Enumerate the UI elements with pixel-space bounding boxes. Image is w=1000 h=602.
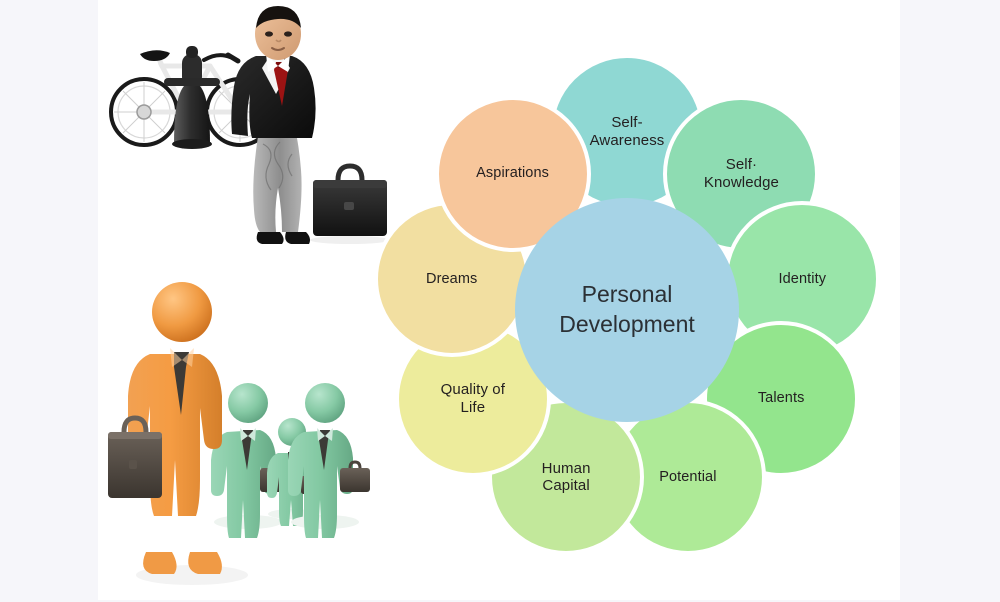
petal-label-line2: Capital — [542, 477, 589, 494]
personal-development-flower-diagram: Self-AwarenessSelf·KnowledgeIdentityTale… — [370, 0, 900, 600]
petal-label-line1: Self- — [611, 114, 642, 131]
petal-label-human-capital: HumanCapital — [536, 460, 597, 495]
petal-label-line1: Quality of — [441, 381, 505, 398]
petal-label-talents: Talents — [752, 390, 811, 407]
petal-label-dreams: Dreams — [420, 271, 483, 288]
petal-label-quality-of-life: Quality ofLife — [435, 381, 511, 416]
center-label-line1: Personal — [582, 281, 673, 307]
photo-team-figures — [100, 272, 390, 597]
petal-label-line1: Self· — [726, 156, 757, 173]
petal-label-potential: Potential — [653, 469, 722, 486]
center-label-line2: Development — [559, 311, 695, 337]
petal-label-line2: Knowledge — [704, 174, 779, 191]
center-circle-personal-development[interactable]: Personal Development — [515, 198, 739, 422]
petal-label-self-knowledge: Self·Knowledge — [698, 156, 785, 191]
petal-label-line1: Human — [542, 460, 591, 477]
screenshot-canvas: Self-AwarenessSelf·KnowledgeIdentityTale… — [0, 0, 1000, 600]
team-figures-illustration — [100, 272, 390, 597]
petal-label-line2: Life — [461, 399, 486, 416]
petal-label-identity: Identity — [773, 271, 833, 288]
photo-child-businessman — [100, 4, 390, 264]
petal-label-self-awareness: Self-Awareness — [584, 114, 671, 149]
petal-label-aspirations: Aspirations — [470, 165, 555, 182]
child-businessman-illustration — [100, 4, 390, 264]
petal-label-line2: Awareness — [590, 132, 665, 149]
